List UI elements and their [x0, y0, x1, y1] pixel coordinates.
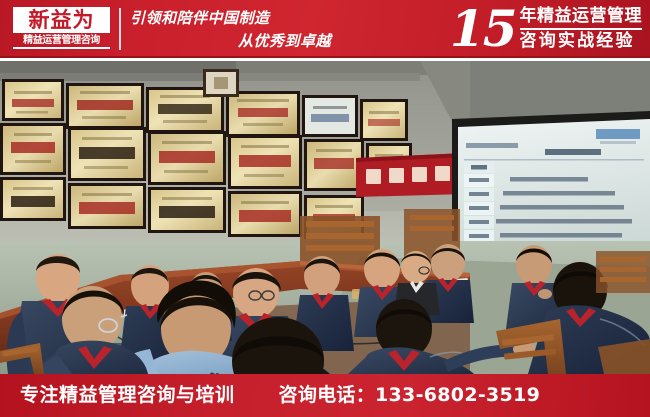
slogan-line-2: 从优秀到卓越	[130, 30, 400, 53]
years-text-block: 年精益运营管理 咨询实战经验	[520, 5, 643, 53]
footer-phone-text: 咨询电话：133-6802-3519	[279, 374, 541, 417]
wall-chairs	[596, 251, 650, 293]
footer-banner: 专注精益管理咨询与培训 咨询电话：133-6802-3519	[0, 374, 650, 417]
slogan-line-1: 引领和陪伴中国制造	[130, 6, 400, 30]
footer-left-text: 专注精益管理咨询与培训	[20, 374, 235, 417]
promotional-image: 新益为 精益运营管理咨询 引领和陪伴中国制造 从优秀到卓越 15 年精益运营管理…	[0, 0, 650, 417]
logo-tagline-text: 精益运营管理咨询	[13, 34, 110, 49]
experience-badge: 15 年精益运营管理 咨询实战经验	[450, 2, 642, 56]
training-scene-photo	[0, 61, 650, 374]
logo-brand-text: 新益为	[13, 7, 110, 33]
wall-welcome-banner	[356, 153, 466, 197]
years-number: 15	[450, 3, 516, 55]
header-banner: 新益为 精益运营管理咨询 引领和陪伴中国制造 从优秀到卓越 15 年精益运营管理…	[0, 0, 650, 58]
years-line-1: 年精益运营管理	[520, 5, 643, 30]
header-divider	[119, 8, 121, 50]
photo-illustration	[0, 61, 650, 374]
company-logo[interactable]: 新益为 精益运营管理咨询	[13, 7, 110, 51]
years-line-2: 咨询实战经验	[520, 30, 643, 53]
header-slogan: 引领和陪伴中国制造 从优秀到卓越	[130, 6, 400, 54]
